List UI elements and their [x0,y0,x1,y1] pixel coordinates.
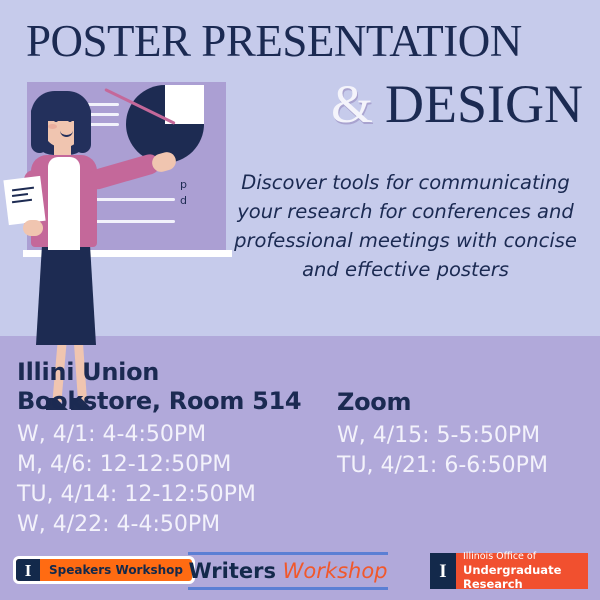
session-time: W, 4/22: 4-4:50PM [17,510,332,540]
illinois-block-i-icon: I [16,559,40,581]
pie-chart-slice [165,85,204,124]
ampersand-glyph: & [331,74,373,134]
board-glyph-icon: p [180,195,187,208]
presenter-shirt [48,157,80,250]
session-block-in-person: Illini Union Bookstore, Room 514 W, 4/1:… [17,358,332,540]
workshop-word: Workshop [283,559,388,583]
session-time: TU, 4/21: 6-6:50PM [337,451,592,481]
venue-line-1: Illini Union [17,358,332,387]
presenter-skirt [36,245,96,345]
speakers-workshop-label: Speakers Workshop [40,563,192,577]
board-glyph-icon: p [180,178,187,191]
presenter-hand-left [23,220,43,236]
venue-line-2: Bookstore, Room 514 [17,387,332,416]
poster-title-line-1: POSTER PRESENTATION [26,19,582,64]
block-i-glyph: I [439,562,446,581]
logo-speakers-workshop[interactable]: I Speakers Workshop [13,556,195,584]
session-time: W, 4/15: 5-5:50PM [337,421,592,451]
board-text-line [95,198,175,201]
poster-title-line-2: &DESIGN [331,76,583,132]
uor-line-1: Illinois Office of [463,551,588,563]
session-time: M, 4/6: 12-12:50PM [17,450,332,480]
logo-writers-workshop[interactable]: Writers Workshop [188,552,388,590]
presenter-hair-side [74,105,91,153]
illinois-block-i-icon: I [430,553,456,589]
venue-name-online: Zoom [337,388,592,417]
undergraduate-research-label: Illinois Office of Undergraduate Researc… [456,551,588,591]
session-time: TU, 4/14: 12-12:50PM [17,480,332,510]
uor-line-2: Undergraduate Research [463,563,588,591]
poster-canvas: p p POSTER PRESENTATION &DESIGN [0,0,600,600]
logo-undergraduate-research[interactable]: I Illinois Office of Undergraduate Resea… [430,553,588,589]
presenter-blush [48,124,57,129]
writers-word: Writers [188,559,276,583]
poster-description: Discover tools for communicating your re… [223,168,588,284]
writers-workshop-label: Writers Workshop [188,559,388,583]
presenter-illustration: p p [0,60,250,350]
session-times-online: W, 4/15: 5-5:50PM TU, 4/21: 6-6:50PM [337,421,592,481]
poster-title-design: DESIGN [385,74,583,134]
session-block-online: Zoom W, 4/15: 5-5:50PM TU, 4/21: 6-6:50P… [337,388,592,481]
presenter-hair-side [31,105,48,153]
session-times-in-person: W, 4/1: 4-4:50PM M, 4/6: 12-12:50PM TU, … [17,420,332,540]
board-text-line [95,220,175,223]
venue-name: Illini Union Bookstore, Room 514 [17,358,332,416]
block-i-glyph: I [25,562,32,579]
session-time: W, 4/1: 4-4:50PM [17,420,332,450]
